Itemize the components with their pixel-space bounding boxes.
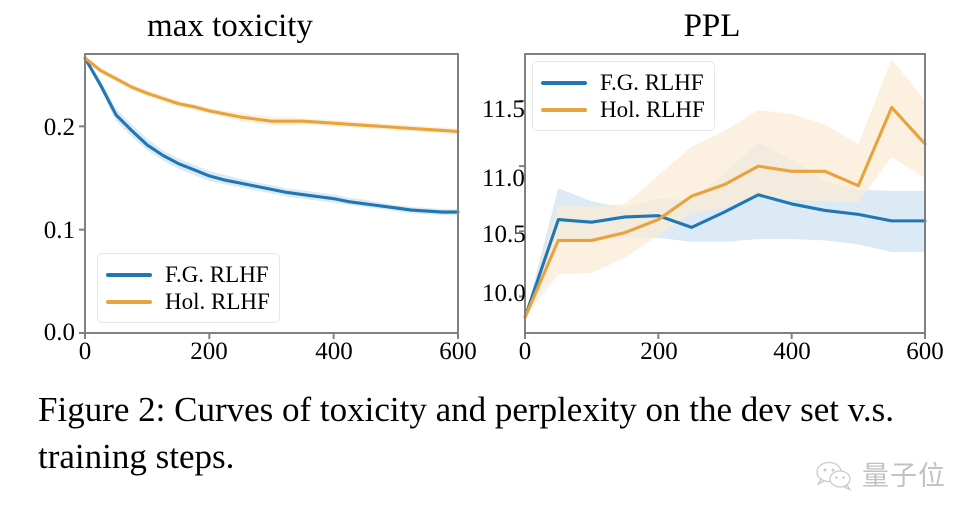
- watermark-label: 量子位: [862, 463, 946, 490]
- watermark: 量子位: [815, 460, 946, 492]
- x-tick-label: 200: [614, 339, 704, 364]
- x-tick-label: 0: [40, 339, 130, 364]
- plot-area-ppl: [482, 0, 964, 380]
- x-tick-label: 400: [747, 339, 837, 364]
- y-tick-label: 10.0: [482, 281, 525, 306]
- y-tick-label: 0.2: [0, 115, 85, 140]
- y-tick-label: 11.5: [482, 97, 525, 122]
- figure-container: max toxicity 0.2 0.1 0.0 0 200 400 600 F…: [0, 0, 964, 516]
- legend-entry-fg-rlhf: F.G. RLHF: [106, 261, 269, 288]
- chart-panel-max-toxicity: max toxicity 0.2 0.1 0.0 0 200 400 600 F…: [0, 0, 482, 380]
- legend-entry-fg-rlhf: F.G. RLHF: [541, 69, 704, 96]
- legend-label-fg-rlhf: F.G. RLHF: [165, 263, 269, 286]
- legend-entry-hol-rlhf: Hol. RLHF: [541, 96, 704, 123]
- legend-swatch-fg-rlhf: [106, 273, 152, 277]
- legend-swatch-hol-rlhf: [106, 300, 152, 304]
- wechat-icon: [815, 460, 855, 492]
- x-tick-label: 400: [289, 339, 379, 364]
- legend-max-toxicity: F.G. RLHF Hol. RLHF: [97, 253, 280, 323]
- legend-ppl: F.G. RLHF Hol. RLHF: [532, 61, 715, 131]
- x-tick-label: 0: [480, 339, 570, 364]
- chart-panel-ppl: PPL 11.5 11.0 10.5 10.0 0 200 400 600 F.…: [482, 0, 964, 380]
- legend-label-hol-rlhf: Hol. RLHF: [165, 290, 270, 313]
- legend-swatch-fg-rlhf: [541, 81, 587, 85]
- y-tick-label: 0.1: [0, 218, 85, 243]
- y-tick-label: 10.5: [482, 222, 525, 247]
- legend-swatch-hol-rlhf: [541, 108, 587, 112]
- x-tick-label: 600: [880, 339, 964, 364]
- legend-label-hol-rlhf: Hol. RLHF: [600, 98, 705, 121]
- figure-caption: Figure 2: Curves of toxicity and perplex…: [38, 386, 928, 480]
- legend-entry-hol-rlhf: Hol. RLHF: [106, 288, 269, 315]
- x-tick-label: 200: [164, 339, 254, 364]
- legend-label-fg-rlhf: F.G. RLHF: [600, 71, 704, 94]
- y-tick-label: 11.0: [482, 166, 525, 191]
